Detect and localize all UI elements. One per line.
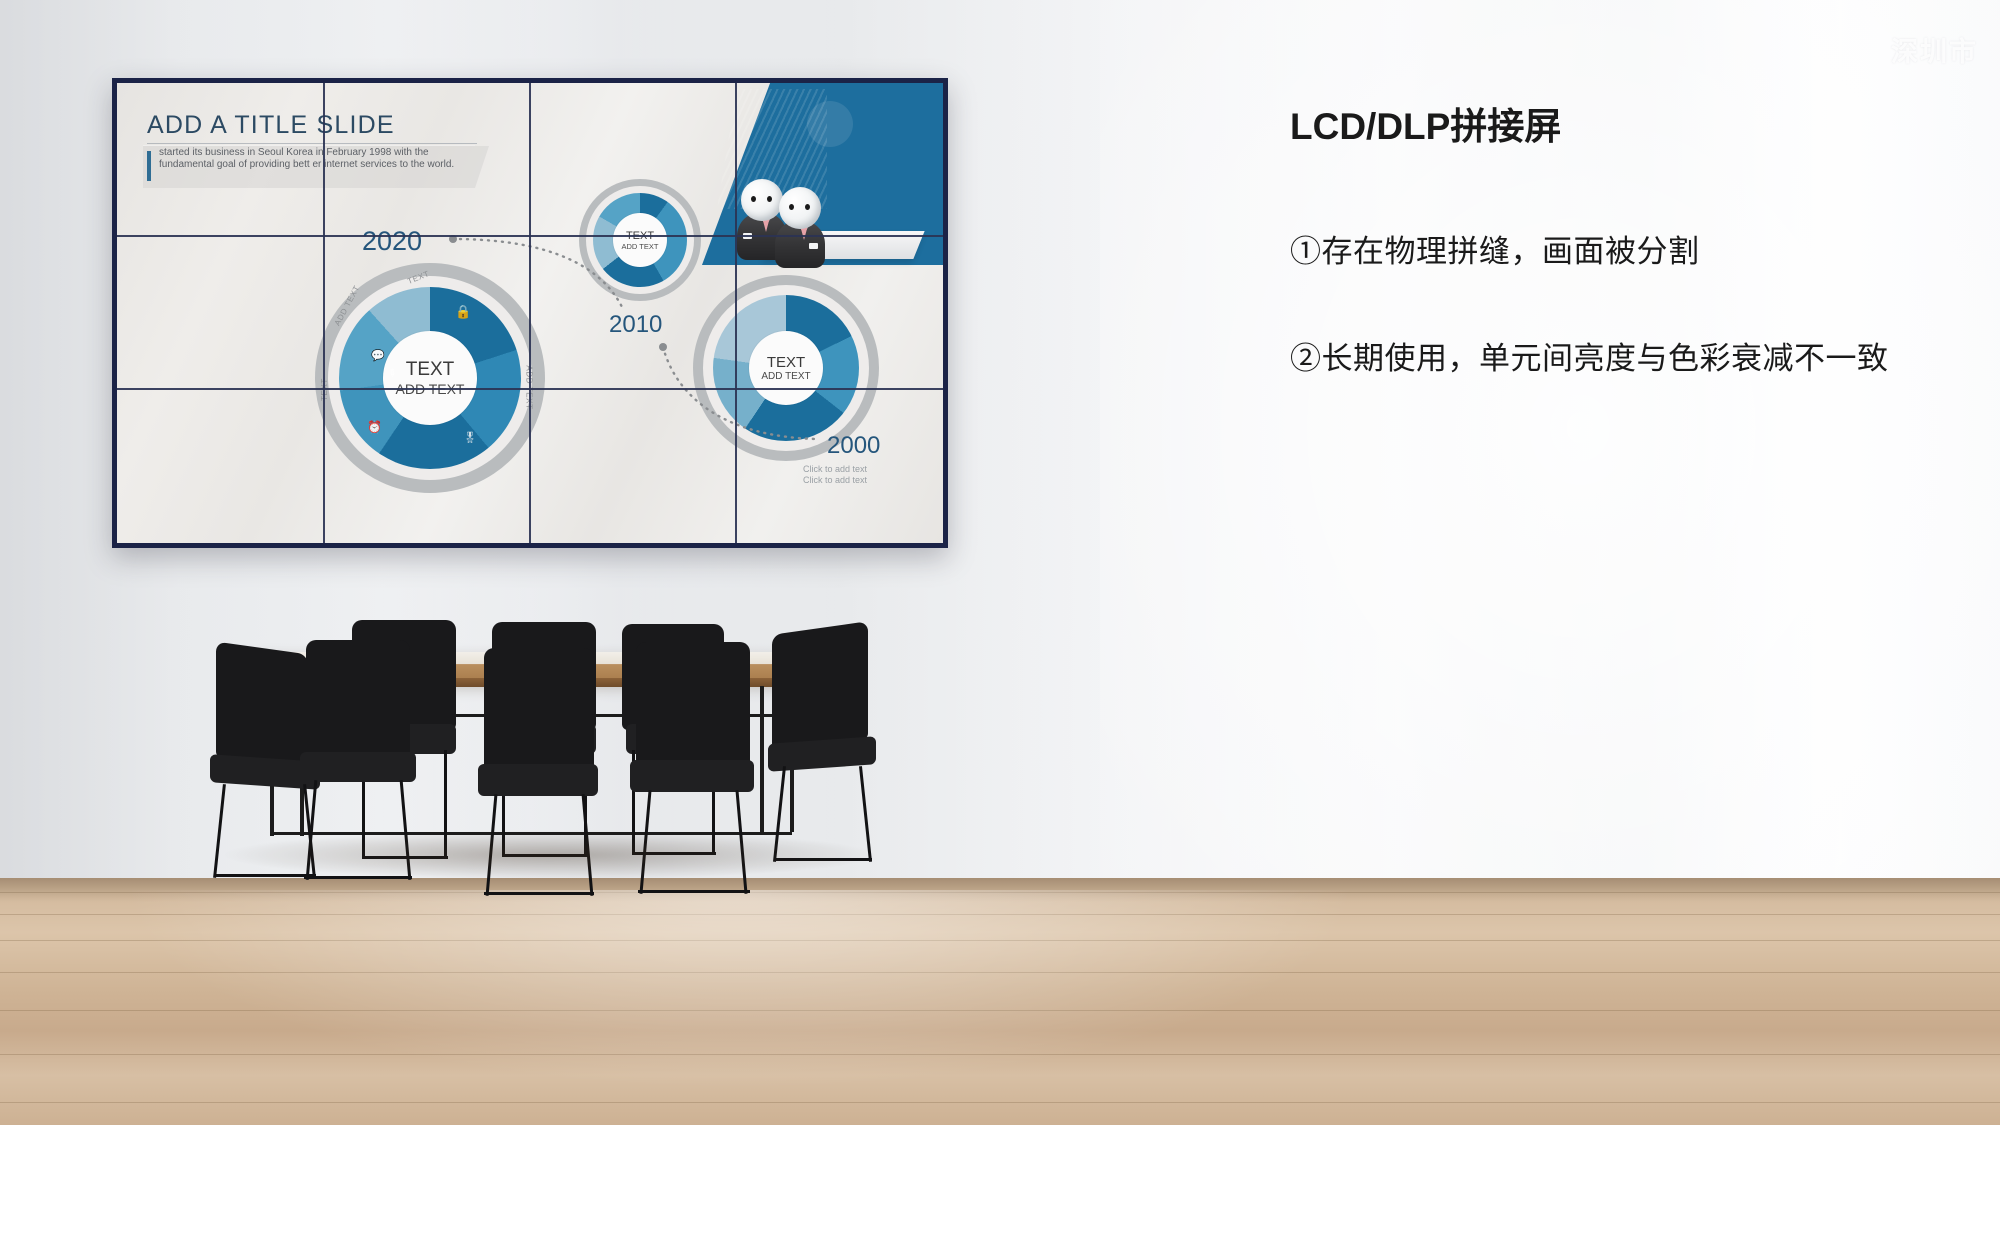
lcd-dlp-video-wall[interactable]: ADD A TITLE SLIDE started its business i… — [112, 78, 948, 548]
bezel-seam-vertical-3 — [735, 83, 737, 543]
floor — [0, 878, 2000, 1125]
table-leg-3 — [760, 686, 764, 832]
room-scene: ADD A TITLE SLIDE started its business i… — [0, 0, 2000, 1125]
chat-icon: 💬 — [371, 351, 385, 362]
timeline-connector-2020-2010 — [447, 233, 667, 343]
bezel-seam-vertical-1 — [323, 83, 325, 543]
donut-2020-center-primary: TEXT — [406, 359, 455, 381]
furniture-shadow — [220, 830, 880, 880]
timeline-caption-2000-line2: Click to add text — [803, 475, 867, 486]
timeline-year-2020: 2020 — [362, 226, 422, 257]
video-wall-screen: ADD A TITLE SLIDE started its business i… — [117, 83, 943, 543]
slide-title-rule — [147, 143, 477, 144]
chair-front-1 — [300, 640, 418, 856]
timeline-connector-2010-2000 — [657, 341, 847, 451]
figurine-person-right — [779, 187, 829, 269]
bezel-seam-vertical-2 — [529, 83, 531, 543]
bullet-item-2: ②长期使用，单元间亮度与色彩衰减不一致 — [1290, 333, 1970, 378]
award-icon: 🎖 — [463, 433, 477, 444]
page-title: LCD/DLP拼接屏 — [1290, 96, 1970, 150]
slide-title: ADD A TITLE SLIDE — [147, 111, 395, 140]
timeline-caption-2000-line1: Click to add text — [803, 464, 867, 475]
bezel-seam-horizontal-2 — [117, 388, 943, 390]
watermark-logo: 深圳市 — [1891, 30, 1978, 69]
right-text-column: LCD/DLP拼接屏 ①存在物理拼缝，画面被分割 ②长期使用，单元间亮度与色彩衰… — [1290, 96, 1970, 440]
slide-accent-bar — [147, 151, 151, 181]
bullet-item-1: ①存在物理拼缝，画面被分割 — [1290, 226, 1970, 271]
bezel-seam-horizontal-1 — [117, 235, 943, 237]
wall-floor-shadow — [0, 878, 2000, 902]
clock-icon: ⏰ — [367, 421, 382, 433]
chair-front-right-end — [768, 628, 880, 842]
slide-body-text: started its business in Seoul Korea in F… — [159, 147, 459, 170]
